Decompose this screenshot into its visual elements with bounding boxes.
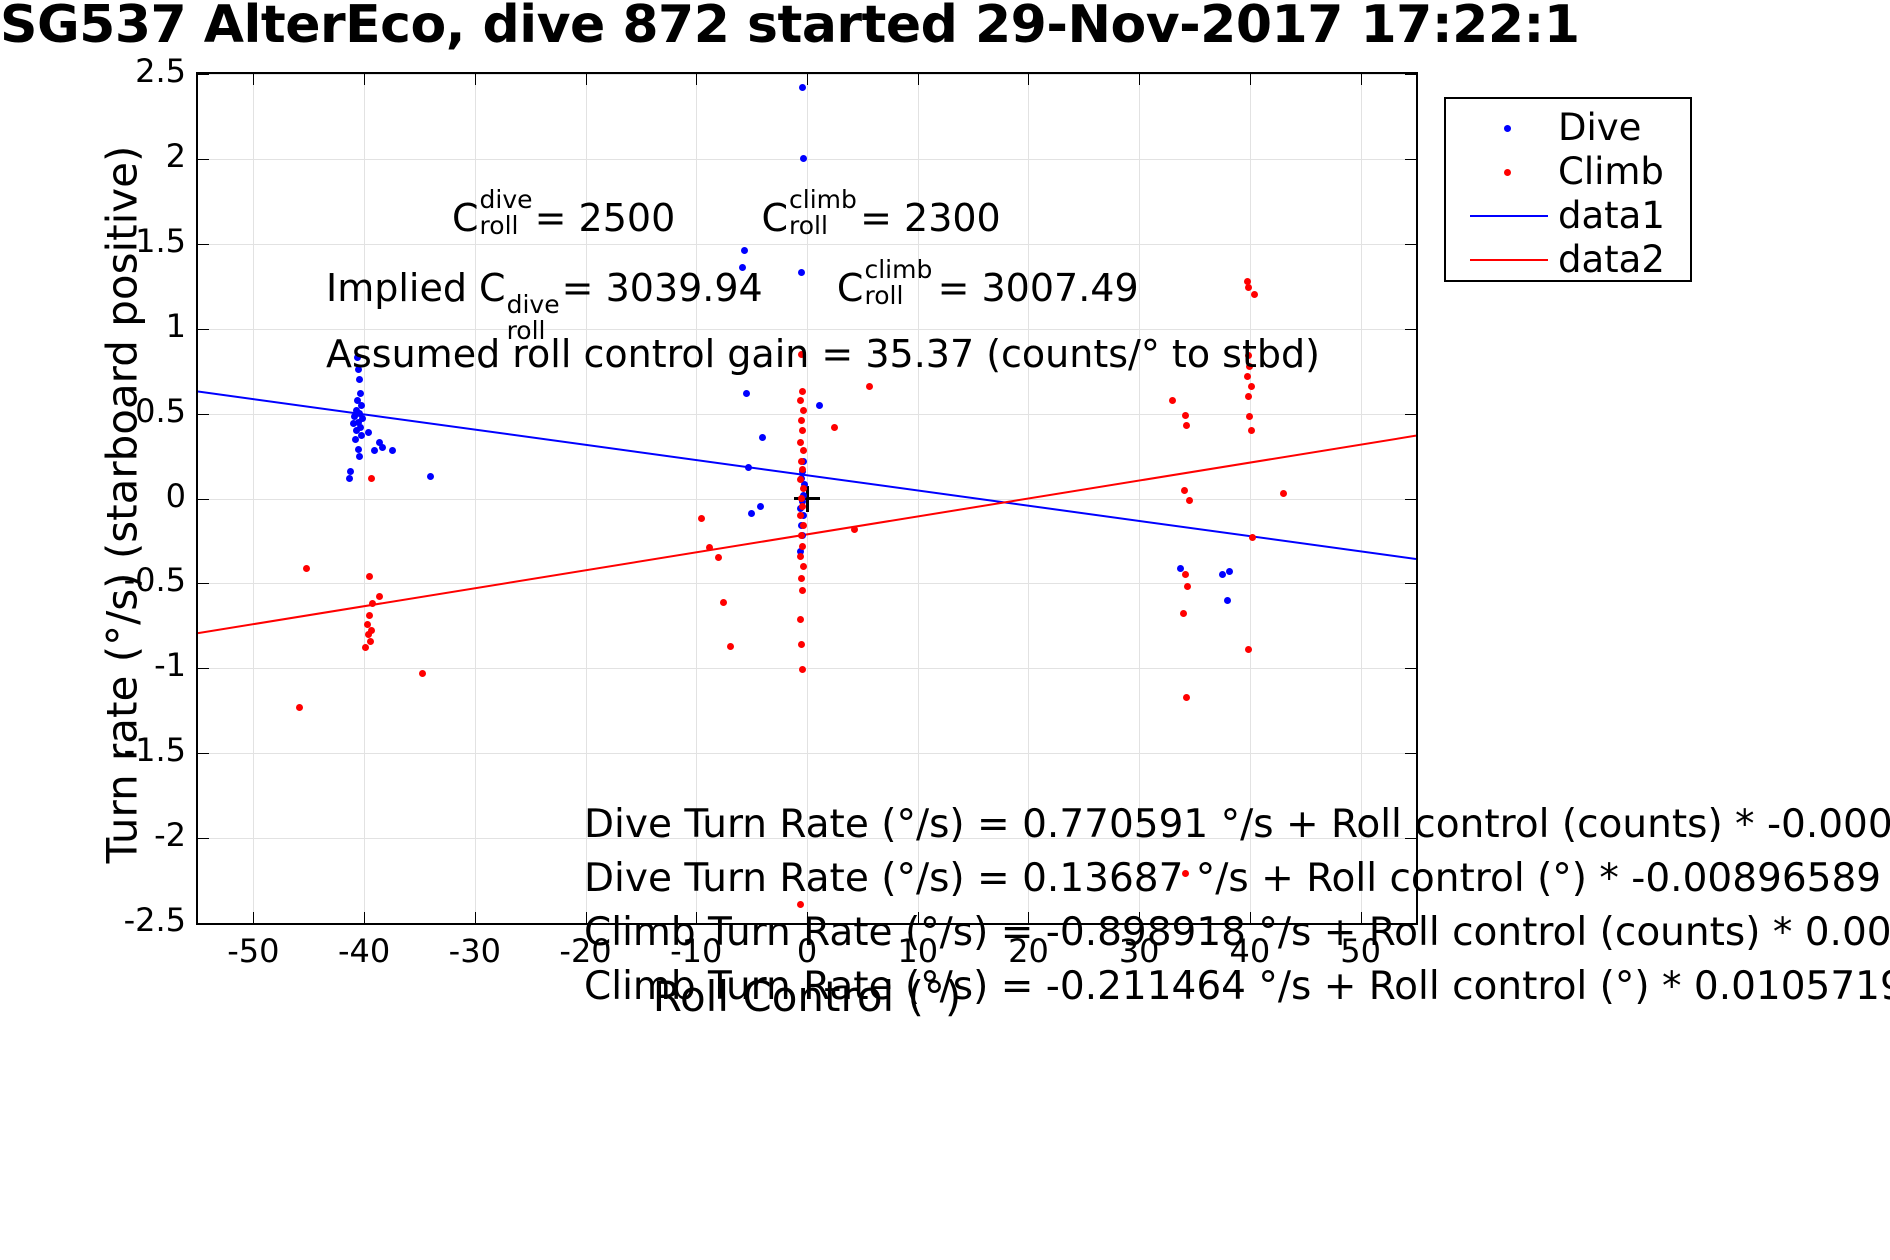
y-axis-tick xyxy=(198,668,209,669)
y-axis-tick xyxy=(198,923,209,924)
data-point-climb xyxy=(866,383,873,390)
x-axis-tick xyxy=(696,74,697,85)
data-point-climb xyxy=(800,407,807,414)
annotation-implied-c: Implied Cdiveroll = 3039.94 Cclimbroll =… xyxy=(326,266,1139,310)
y-axis-tick xyxy=(198,244,209,245)
x-axis-tick xyxy=(1139,912,1140,923)
x-tick-label: 50 xyxy=(1301,932,1421,970)
legend-label-climb: Climb xyxy=(1558,150,1664,194)
x-axis-tick xyxy=(1250,912,1251,923)
data-point-dive xyxy=(759,434,766,441)
x-axis-tick xyxy=(696,912,697,923)
data-point-climb xyxy=(797,901,804,908)
legend-line-data2-icon xyxy=(1462,237,1554,283)
x-axis-tick xyxy=(1361,912,1362,923)
data-point-climb xyxy=(368,475,375,482)
y-axis-tick xyxy=(1405,668,1416,669)
data-point-dive xyxy=(1177,565,1184,572)
data-point-climb xyxy=(1183,694,1190,701)
x-axis-tick xyxy=(918,74,919,85)
data-point-climb xyxy=(797,512,804,519)
c-climb-value: = 2300 xyxy=(860,196,1001,240)
y-axis-tick xyxy=(198,583,209,584)
x-axis-tick xyxy=(1028,912,1029,923)
implied-climb-value: = 3007.49 xyxy=(938,266,1139,310)
x-axis-title: Roll Control (°) xyxy=(196,972,1418,1021)
data-point-dive xyxy=(816,402,823,409)
data-point-dive xyxy=(743,390,750,397)
y-axis-title: Turn rate (°/s) (starboard positive) xyxy=(98,95,147,915)
implied-prefix: Implied C xyxy=(326,266,506,310)
x-axis-tick xyxy=(807,74,808,85)
x-axis-tick xyxy=(807,912,808,923)
x-axis-tick xyxy=(364,74,365,85)
y-axis-tick xyxy=(198,753,209,754)
y-axis-tick xyxy=(1405,414,1416,415)
x-axis-tick xyxy=(253,74,254,85)
legend-item-data1[interactable]: data1 xyxy=(1446,193,1690,239)
data-point-climb xyxy=(798,575,805,582)
c-dive-symbol: Cdiveroll xyxy=(452,196,479,240)
data-point-climb xyxy=(1181,487,1188,494)
y-axis-tick xyxy=(198,838,209,839)
equation-dive-counts: Dive Turn Rate (°/s) = 0.770591 °/s + Ro… xyxy=(584,802,1890,847)
legend-item-dive[interactable]: Dive xyxy=(1446,105,1690,151)
x-tick-label: -10 xyxy=(636,932,756,970)
x-tick-label: 40 xyxy=(1190,932,1310,970)
y-axis-tick xyxy=(1405,74,1416,75)
implied-climb-symbol: Cclimbroll xyxy=(837,266,864,310)
data-point-climb xyxy=(798,495,805,502)
x-axis-tick xyxy=(1361,74,1362,85)
data-point-climb xyxy=(799,587,806,594)
legend-label-data1: data1 xyxy=(1558,194,1665,238)
data-point-climb xyxy=(1248,427,1255,434)
data-point-climb xyxy=(365,631,372,638)
data-point-dive xyxy=(356,453,363,460)
data-point-climb xyxy=(831,424,838,431)
data-point-climb xyxy=(851,526,858,533)
x-axis-tick xyxy=(1250,74,1251,85)
y-tick-label: 2.5 xyxy=(60,52,186,90)
legend-label-dive: Dive xyxy=(1558,106,1641,150)
data-point-climb xyxy=(1182,412,1189,419)
x-tick-label: 10 xyxy=(858,932,978,970)
data-point-climb xyxy=(1249,534,1256,541)
data-point-climb xyxy=(797,616,804,623)
data-point-climb xyxy=(800,485,807,492)
legend[interactable]: Dive Climb data1 data2 xyxy=(1444,97,1692,282)
x-axis-tick xyxy=(586,74,587,85)
y-axis-tick xyxy=(1405,583,1416,584)
c-dive-value: = 2500 xyxy=(535,196,676,240)
x-axis-tick xyxy=(253,912,254,923)
data-point-climb xyxy=(798,641,805,648)
data-point-climb xyxy=(1169,397,1176,404)
y-axis-tick xyxy=(1405,499,1416,500)
x-axis-tick xyxy=(475,912,476,923)
data-point-dive xyxy=(427,473,434,480)
data-point-climb xyxy=(1186,497,1193,504)
legend-label-data2: data2 xyxy=(1558,238,1665,282)
y-axis-tick xyxy=(1405,329,1416,330)
plot-axes: Cdiveroll = 2500 Cclimbroll = 2300 Impli… xyxy=(196,72,1418,925)
data-point-climb xyxy=(797,553,804,560)
legend-item-climb[interactable]: Climb xyxy=(1446,149,1690,195)
y-axis-tick xyxy=(198,74,209,75)
y-axis-tick xyxy=(1405,159,1416,160)
data-point-climb xyxy=(727,643,734,650)
data-point-dive xyxy=(365,429,372,436)
annotation-c-constants: Cdiveroll = 2500 Cclimbroll = 2300 xyxy=(452,196,1001,240)
data-point-dive xyxy=(358,402,365,409)
equation-dive-degrees: Dive Turn Rate (°/s) = 0.13687 °/s + Rol… xyxy=(584,856,1881,901)
data-point-climb xyxy=(797,439,804,446)
x-tick-label: -30 xyxy=(415,932,535,970)
x-tick-label: -20 xyxy=(526,932,646,970)
x-tick-label: -50 xyxy=(193,932,313,970)
data-point-dive xyxy=(346,475,353,482)
x-tick-label: 0 xyxy=(747,932,867,970)
legend-line-data1-icon xyxy=(1462,193,1554,239)
annotation-roll-gain: Assumed roll control gain = 35.37 (count… xyxy=(326,332,1320,376)
data-point-climb xyxy=(303,565,310,572)
data-point-climb xyxy=(798,417,805,424)
y-axis-tick xyxy=(1405,923,1416,924)
c-climb-symbol: Cclimbroll xyxy=(761,196,788,240)
y-axis-tick xyxy=(198,414,209,415)
data-point-dive xyxy=(355,446,362,453)
page-title: SG537 AlterEco, dive 872 started 29-Nov-… xyxy=(0,0,1890,56)
x-axis-tick xyxy=(918,912,919,923)
data-point-climb xyxy=(367,638,374,645)
data-point-dive xyxy=(357,390,364,397)
y-axis-tick xyxy=(198,499,209,500)
y-axis-tick xyxy=(198,159,209,160)
x-axis-tick xyxy=(364,912,365,923)
y-axis-tick xyxy=(1405,838,1416,839)
x-tick-label: 20 xyxy=(968,932,1088,970)
implied-dive-value: = 3039.94 xyxy=(562,266,763,310)
data-point-climb xyxy=(798,458,805,465)
legend-marker-climb-icon xyxy=(1462,149,1554,195)
x-axis-tick xyxy=(586,912,587,923)
x-axis-tick xyxy=(1028,74,1029,85)
y-axis-tick xyxy=(198,329,209,330)
x-tick-label: 30 xyxy=(1079,932,1199,970)
x-tick-label: -40 xyxy=(304,932,424,970)
data-point-climb xyxy=(799,543,806,550)
data-point-climb xyxy=(1280,490,1287,497)
y-axis-tick xyxy=(1405,753,1416,754)
x-axis-tick xyxy=(475,74,476,85)
data-point-dive xyxy=(352,436,359,443)
data-point-climb xyxy=(1248,383,1255,390)
data-point-climb xyxy=(797,397,804,404)
y-axis-tick xyxy=(1405,244,1416,245)
legend-item-data2[interactable]: data2 xyxy=(1446,237,1690,283)
x-axis-tick xyxy=(1139,74,1140,85)
legend-marker-dive-icon xyxy=(1462,105,1554,151)
